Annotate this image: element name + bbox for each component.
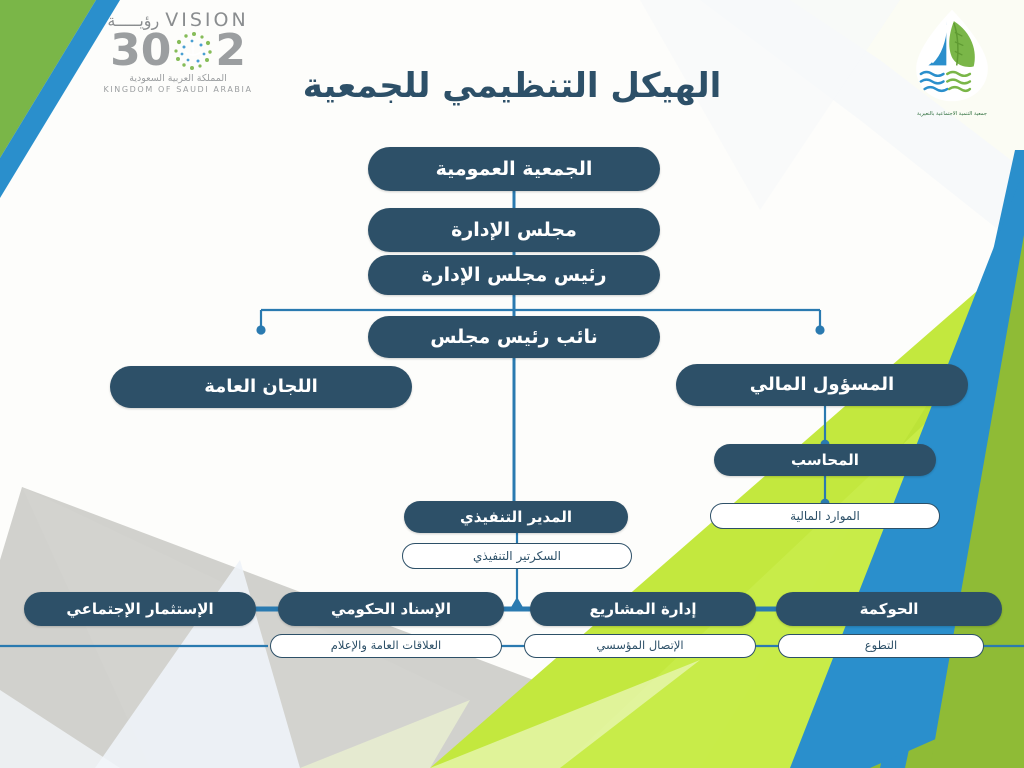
node-financial-resources[interactable]: الموارد المالية xyxy=(710,503,940,529)
node-label: التطوع xyxy=(865,640,897,652)
node-label: المحاسب xyxy=(791,453,859,468)
node-label: اللجان العامة xyxy=(204,378,318,396)
node-project-management[interactable]: إدارة المشاريع xyxy=(530,592,756,626)
node-label: إدارة المشاريع xyxy=(590,602,697,617)
node-label: نائب رئيس مجلس xyxy=(430,328,598,347)
node-label: الحوكمة xyxy=(860,602,919,617)
node-vice-chairman[interactable]: نائب رئيس مجلس xyxy=(368,316,660,358)
org-chart-canvas: VISION رؤيـــــة 2 xyxy=(0,0,1024,768)
node-public-relations-media[interactable]: العلاقات العامة والإعلام xyxy=(270,634,502,658)
node-general-committees[interactable]: اللجان العامة xyxy=(110,366,412,408)
node-financial-officer[interactable]: المسؤول المالي xyxy=(676,364,968,406)
node-label: الإسناد الحكومي xyxy=(331,602,451,617)
node-label: الجمعية العمومية xyxy=(436,160,593,179)
node-executive-director[interactable]: المدير التنفيذي xyxy=(404,501,628,533)
node-label: الإتصال المؤسسي xyxy=(596,640,683,652)
node-label: السكرتير التنفيذي xyxy=(473,550,561,562)
node-executive-secretary[interactable]: السكرتير التنفيذي xyxy=(402,543,632,569)
node-general-assembly[interactable]: الجمعية العمومية xyxy=(368,147,660,191)
node-government-support[interactable]: الإسناد الحكومي xyxy=(278,592,504,626)
node-label: الموارد المالية xyxy=(790,510,860,522)
node-label: المدير التنفيذي xyxy=(460,510,572,525)
node-label: المسؤول المالي xyxy=(750,376,894,394)
node-governance[interactable]: الحوكمة xyxy=(776,592,1002,626)
node-label: الإستثمار الإجتماعي xyxy=(66,602,213,617)
node-label: رئيس مجلس الإدارة xyxy=(421,266,606,285)
node-volunteering[interactable]: التطوع xyxy=(778,634,984,658)
node-label: مجلس الإدارة xyxy=(451,221,577,240)
node-board-of-directors[interactable]: مجلس الإدارة xyxy=(368,208,660,252)
node-board-chairman[interactable]: رئيس مجلس الإدارة xyxy=(368,255,660,295)
node-corporate-communication[interactable]: الإتصال المؤسسي xyxy=(524,634,756,658)
node-social-investment[interactable]: الإستثمار الإجتماعي xyxy=(24,592,256,626)
node-label: العلاقات العامة والإعلام xyxy=(331,640,441,652)
node-accountant[interactable]: المحاسب xyxy=(714,444,936,476)
